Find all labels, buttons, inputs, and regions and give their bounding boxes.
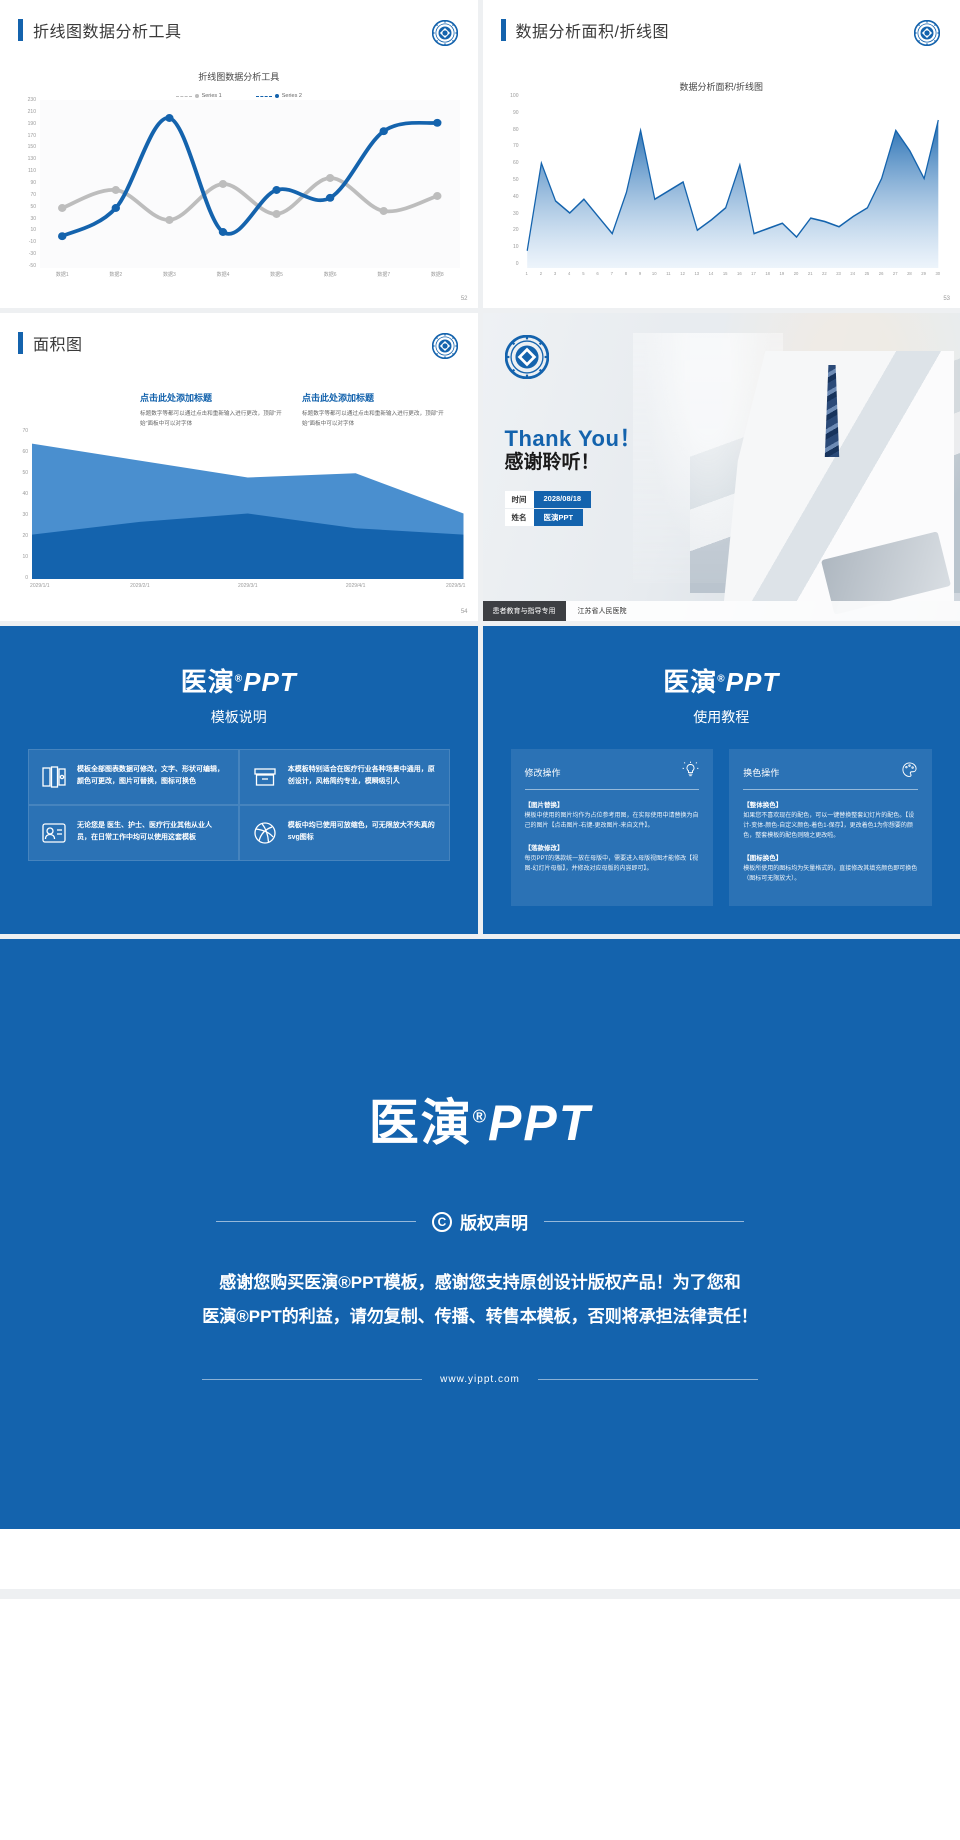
- hospital-seal-logo: [432, 333, 458, 359]
- tutorial-block-title: 【图片替换】: [525, 799, 700, 809]
- divider: [743, 789, 918, 790]
- tutorial-block-body: 模板中使用的图片均作为占位参考用图，在实际使用中请替换为自己的图片【点击图片-右…: [525, 812, 700, 832]
- page-title: 数据分析面积/折线图: [516, 18, 669, 42]
- tutorial-block-body: 每页PPT的落款统一放在母版中，需要进入母版视图才能修改【视图-幻灯片母版】，并…: [525, 855, 700, 875]
- palette-icon: [901, 761, 918, 783]
- x-axis: 1234567891011121314151617181920212223242…: [523, 270, 943, 282]
- info-cell-text: 模板中均已使用可放缩色，可无限放大不失真的svg图标: [288, 820, 437, 846]
- brand-block: 医演®PPT 使用教程: [483, 626, 960, 727]
- footer-right-text: 江苏省人民医院: [566, 601, 960, 621]
- copyright-body-line-1: 感谢您购买医演®PPT模板，感谢您支持原创设计版权产品！为了您和: [202, 1266, 758, 1300]
- copyright-icon: C: [432, 1212, 452, 1232]
- caption-group: 点击此处添加标题 标题数字等都可以通过点击和重新输入进行更改，顶部“开始”面板中…: [140, 391, 450, 430]
- divider-right: [544, 1221, 744, 1222]
- divider: [525, 789, 700, 790]
- divider-left: [216, 1221, 416, 1222]
- tutorial-block-body: 如果您不喜欢现在的配色，可以一键替换整套幻灯片的配色。【设计-变体-颜色-自定义…: [743, 812, 918, 842]
- tutorial-block: 【整体换色】 如果您不喜欢现在的配色，可以一键替换整套幻灯片的配色。【设计-变体…: [743, 799, 918, 842]
- legend-dot-icon: [195, 94, 199, 98]
- field-time: 时间 2028/08/18: [505, 491, 592, 508]
- tutorial-block: 【落款修改】 每页PPT的落款统一放在母版中，需要进入母版视图才能修改【视图-幻…: [525, 842, 700, 875]
- tutorial-column-recolor: 换色操作 【整体换色】 如果您不喜欢现在的配色，可以一键替换整套幻灯片的配色。【…: [729, 749, 932, 906]
- copyright-heading-text: 版权声明: [460, 1209, 528, 1234]
- caption-heading: 点击此处添加标题: [302, 391, 450, 404]
- brand-cn: 医演: [181, 667, 235, 697]
- title-accent-bar: [18, 332, 23, 354]
- legend-dot-icon: [275, 94, 279, 98]
- page-title: 面积图: [33, 331, 83, 355]
- chart-title: 折线图数据分析工具: [14, 70, 464, 83]
- field-label: 时间: [505, 491, 534, 508]
- chart-legend: Series 1 Series 2: [14, 93, 464, 99]
- slide-copyright[interactable]: 医演®PPT C 版权声明 感谢您购买医演®PPT模板，感谢您支持原创设计版权产…: [0, 939, 960, 1529]
- tutorial-column-header: 换色操作: [743, 761, 918, 783]
- brand-block: 医演®PPT 模板说明: [0, 626, 478, 727]
- tutorial-block: 【图标换色】 模板所使用的图标均为矢量格式的，直接修改其填充颜色即可换色（图标可…: [743, 852, 918, 885]
- hospital-seal-logo: [505, 335, 549, 379]
- area-plot-area: 1009080706050403020100 12345678910111213: [497, 96, 943, 282]
- footer-left-text: 患者教育与指导专用: [483, 601, 566, 621]
- page-title: 折线图数据分析工具: [33, 18, 182, 42]
- brand-cn: 医演: [663, 667, 717, 697]
- slide-header: 面积图: [0, 313, 478, 355]
- slide-row-1: 折线图数据分析工具 折线图数据分: [0, 0, 960, 308]
- brand-logo: 医演®PPT: [0, 662, 478, 699]
- field-name: 姓名 医演PPT: [505, 509, 584, 526]
- brand-registered-mark: ®: [717, 673, 725, 684]
- legend-line-icon: [176, 96, 192, 97]
- legend-item-series-2: Series 2: [256, 93, 302, 99]
- book-pages-icon: [41, 764, 67, 790]
- page-number: 53: [943, 296, 950, 302]
- field-label: 姓名: [505, 509, 534, 526]
- plot-canvas: [40, 100, 460, 268]
- slide-tutorial[interactable]: 医演®PPT 使用教程 修改操作: [483, 626, 960, 934]
- legend-label: Series 2: [282, 93, 302, 99]
- y-axis: 2302101901701501301109070503010-10-30-50: [14, 100, 38, 282]
- tutorial-heading: 换色操作: [743, 766, 779, 779]
- y-axis: 1009080706050403020100: [497, 96, 521, 282]
- stacked-area-plot: 706050403020100 2029/1/12029/2/12029/3/1…: [6, 431, 464, 593]
- slide-area-line-chart[interactable]: 数据分析面积/折线图 数据分析面: [483, 0, 960, 308]
- divider-left: [202, 1379, 422, 1380]
- field-value: 医演PPT: [534, 509, 584, 526]
- tutorial-column-modify: 修改操作 【图片替换】: [511, 749, 714, 906]
- thanks-chinese-title: 感谢聆听！: [505, 447, 600, 474]
- brand-en: PPT: [488, 1095, 591, 1151]
- brand-registered-mark: ®: [473, 1106, 488, 1126]
- caption-block: 点击此处添加标题 标题数字等都可以通过点击和重新输入进行更改，顶部“开始”面板中…: [140, 391, 288, 430]
- archive-box-icon: [252, 764, 278, 790]
- hospital-seal-logo: [432, 20, 458, 46]
- caption-block: 点击此处添加标题 标题数字等都可以通过点击和重新输入进行更改，顶部“开始”面板中…: [302, 391, 450, 430]
- tutorial-block-title: 【整体换色】: [743, 799, 918, 809]
- copyright-body-line-2: 医演®PPT的利益，请勿复制、传播、转售本模板，否则将承担法律责任！: [202, 1300, 758, 1334]
- tutorial-heading: 修改操作: [525, 766, 561, 779]
- x-axis: 数据1数据2数据3数据4数据5数据6数据7数据8: [40, 270, 460, 282]
- slide-header: 数据分析面积/折线图: [483, 0, 960, 42]
- info-cell-text: 本模板特别适合在医疗行业各种场景中通用，原创设计，风格简约专业，模瞬吸引人: [288, 764, 437, 790]
- user-card-icon: [41, 820, 67, 846]
- info-cell[interactable]: 模板全部图表数据可修改，文字、形状可编辑，颜色可更改，图片可替换，图标可换色: [28, 749, 239, 805]
- brand-logo: 医演®PPT: [483, 662, 960, 699]
- slide-thank-you[interactable]: Thank You！ 感谢聆听！ 时间 2028/08/18 姓名 医演PPT …: [483, 313, 960, 621]
- area-chart-card: 数据分析面积/折线图 1009080706050403020100: [497, 74, 947, 282]
- brand-logo: 医演®PPT: [369, 1083, 592, 1155]
- slide-header: 折线图数据分析工具: [0, 0, 478, 42]
- slide-line-chart[interactable]: 折线图数据分析工具 折线图数据分: [0, 0, 478, 308]
- x-axis: 2029/1/12029/2/12029/3/12029/4/12029/5/1: [32, 581, 464, 593]
- brand-registered-mark: ®: [235, 673, 243, 684]
- line-chart-card: 折线图数据分析工具 Series 1 Series 2 230210190170…: [14, 64, 464, 282]
- slide-row-2: 面积图: [0, 313, 960, 621]
- caption-heading: 点击此处添加标题: [140, 391, 288, 404]
- caption-body: 标题数字等都可以通过点击和重新输入进行更改，顶部“开始”面板中可以对字体: [140, 409, 288, 430]
- title-accent-bar: [501, 19, 506, 41]
- legend-item-series-1: Series 1: [176, 93, 222, 99]
- info-cell[interactable]: 模板中均已使用可放缩色，可无限放大不失真的svg图标: [239, 805, 450, 861]
- line-plot-area: 2302101901701501301109070503010-10-30-50…: [14, 100, 460, 282]
- info-cell[interactable]: 无论您是 医生、护士、医疗行业其他从业人员，在日常工作中均可以使用这套模板: [28, 805, 239, 861]
- slide-template-description[interactable]: 医演®PPT 模板说明 模板全部图表数据可修改，文字、形状可编辑，颜色可更改，图…: [0, 626, 478, 934]
- page-number: 52: [461, 296, 468, 302]
- brand-cn: 医演: [369, 1095, 473, 1151]
- plot-canvas: [32, 431, 464, 579]
- legend-line-icon: [256, 96, 272, 97]
- slide-stacked-area[interactable]: 面积图: [0, 313, 478, 621]
- field-value: 2028/08/18: [534, 491, 592, 508]
- tutorial-block-body: 模板所使用的图标均为矢量格式的，直接修改其填充颜色即可换色（图标可无限放大）。: [743, 865, 918, 885]
- lightbulb-icon: [682, 761, 699, 783]
- website-url[interactable]: www.yippt.com: [440, 1374, 520, 1385]
- brand-en: PPT: [726, 667, 780, 697]
- slide-row-3: 医演®PPT 模板说明 模板全部图表数据可修改，文字、形状可编辑，颜色可更改，图…: [0, 626, 960, 934]
- copyright-heading-row: C 版权声明: [216, 1209, 744, 1234]
- info-card-grid: 模板全部图表数据可修改，文字、形状可编辑，颜色可更改，图片可替换，图标可换色 本…: [28, 749, 450, 861]
- info-cell-text: 无论您是 医生、护士、医疗行业其他从业人员，在日常工作中均可以使用这套模板: [77, 820, 226, 846]
- copyright-heading: C 版权声明: [432, 1209, 528, 1234]
- info-cell-text: 模板全部图表数据可修改，文字、形状可编辑，颜色可更改，图片可替换，图标可换色: [77, 764, 226, 790]
- info-cell[interactable]: 本模板特别适合在医疗行业各种场景中通用，原创设计，风格简约专业，模瞬吸引人: [239, 749, 450, 805]
- website-row: www.yippt.com: [202, 1374, 758, 1385]
- dribbble-icon: [252, 820, 278, 846]
- tutorial-column-header: 修改操作: [525, 761, 700, 783]
- ppt-preview-page: 折线图数据分析工具 折线图数据分: [0, 0, 960, 1599]
- slide-footer: 患者教育与指导专用 江苏省人民医院: [483, 601, 960, 621]
- tutorial-block: 【图片替换】 模板中使用的图片均作为占位参考用图，在实际使用中请替换为自己的图片…: [525, 799, 700, 832]
- brand-en: PPT: [243, 667, 297, 697]
- page-number: 54: [461, 609, 468, 615]
- tutorial-block-title: 【图标换色】: [743, 852, 918, 862]
- y-axis: 706050403020100: [6, 431, 30, 593]
- copyright-body: 感谢您购买医演®PPT模板，感谢您支持原创设计版权产品！为了您和 医演®PPT的…: [202, 1266, 758, 1334]
- brand-subtitle: 使用教程: [483, 707, 960, 727]
- caption-body: 标题数字等都可以通过点击和重新输入进行更改，顶部“开始”面板中可以对字体: [302, 409, 450, 430]
- chart-title: 数据分析面积/折线图: [497, 80, 947, 93]
- tutorial-grid: 修改操作 【图片替换】: [511, 749, 933, 906]
- title-accent-bar: [18, 19, 23, 41]
- tutorial-block-title: 【落款修改】: [525, 842, 700, 852]
- divider-right: [538, 1379, 758, 1380]
- hospital-seal-logo: [914, 20, 940, 46]
- plot-canvas: [523, 96, 943, 268]
- brand-subtitle: 模板说明: [0, 707, 478, 727]
- page-bottom-padding: [0, 1529, 960, 1589]
- legend-label: Series 1: [202, 93, 222, 99]
